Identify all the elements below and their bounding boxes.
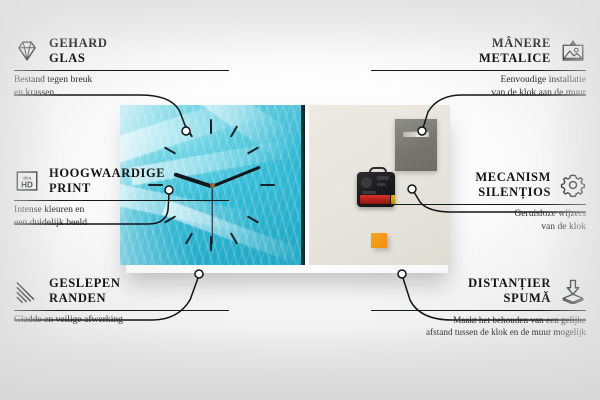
svg-text:HD: HD bbox=[21, 181, 33, 190]
callout-subtitle: Geruisloze wijzers van de klok bbox=[371, 208, 586, 234]
callout-rule bbox=[14, 310, 229, 311]
callout-title: HOOGWAARDIGE PRINT bbox=[49, 166, 165, 197]
callout-tempered-glass: GEHARD GLAS Bestand tegen breuk en krass… bbox=[14, 36, 229, 100]
gear-icon bbox=[560, 172, 586, 198]
callout-hd-print: ultra HD HOOGWAARDIGE PRINT Intense kleu… bbox=[14, 166, 229, 230]
clock-glass-edge bbox=[301, 105, 305, 265]
callout-rule bbox=[371, 204, 586, 205]
callout-foam-spacer: DISTANȚIER SPUMĂ Maakt het behouden van … bbox=[371, 276, 586, 339]
callout-rule bbox=[14, 200, 229, 201]
diamond-icon bbox=[14, 38, 40, 64]
callout-title: GEHARD GLAS bbox=[49, 36, 107, 67]
svg-text:ultra: ultra bbox=[23, 176, 32, 181]
ultra-hd-icon: ultra HD bbox=[14, 168, 40, 194]
clock-tick bbox=[260, 184, 275, 186]
infographic-canvas: GEHARD GLAS Bestand tegen breuk en krass… bbox=[0, 0, 600, 400]
callout-subtitle: Eenvoudige installatie van de klok aan d… bbox=[371, 74, 586, 100]
clock-tick bbox=[210, 119, 212, 134]
foam-spacer bbox=[371, 233, 387, 248]
callout-title: MÂNERE METALICE bbox=[479, 36, 551, 67]
press-down-icon bbox=[560, 278, 586, 304]
callout-metal-handles: MÂNERE METALICE Eenvoudige installatie v… bbox=[371, 36, 586, 100]
picture-frame-icon bbox=[560, 38, 586, 64]
callout-title: MECANISM SILENȚIOS bbox=[475, 170, 551, 201]
callout-title: DISTANȚIER SPUMĂ bbox=[468, 276, 551, 307]
callout-rule bbox=[371, 70, 586, 71]
callout-subtitle: Gladde en veilige afwerking bbox=[14, 314, 229, 327]
callout-ground-edges: GESLEPEN RANDEN Gladde en veilige afwerk… bbox=[14, 276, 229, 327]
callout-subtitle: Maakt het behouden van een gelijke afsta… bbox=[371, 314, 586, 339]
callout-subtitle: Bestand tegen breuk en krassen bbox=[14, 74, 229, 100]
metal-hanger-plate bbox=[395, 119, 437, 171]
beveled-edges-icon bbox=[14, 278, 40, 304]
callout-rule bbox=[371, 310, 586, 311]
callout-silent-mechanism: MECANISM SILENȚIOS Geruisloze wijzers va… bbox=[371, 170, 586, 234]
callout-title: GESLEPEN RANDEN bbox=[49, 276, 121, 307]
callout-subtitle: Intense kleuren en een duidelijk beeld bbox=[14, 204, 229, 230]
callout-rule bbox=[14, 70, 229, 71]
hanger-slot bbox=[403, 131, 429, 137]
